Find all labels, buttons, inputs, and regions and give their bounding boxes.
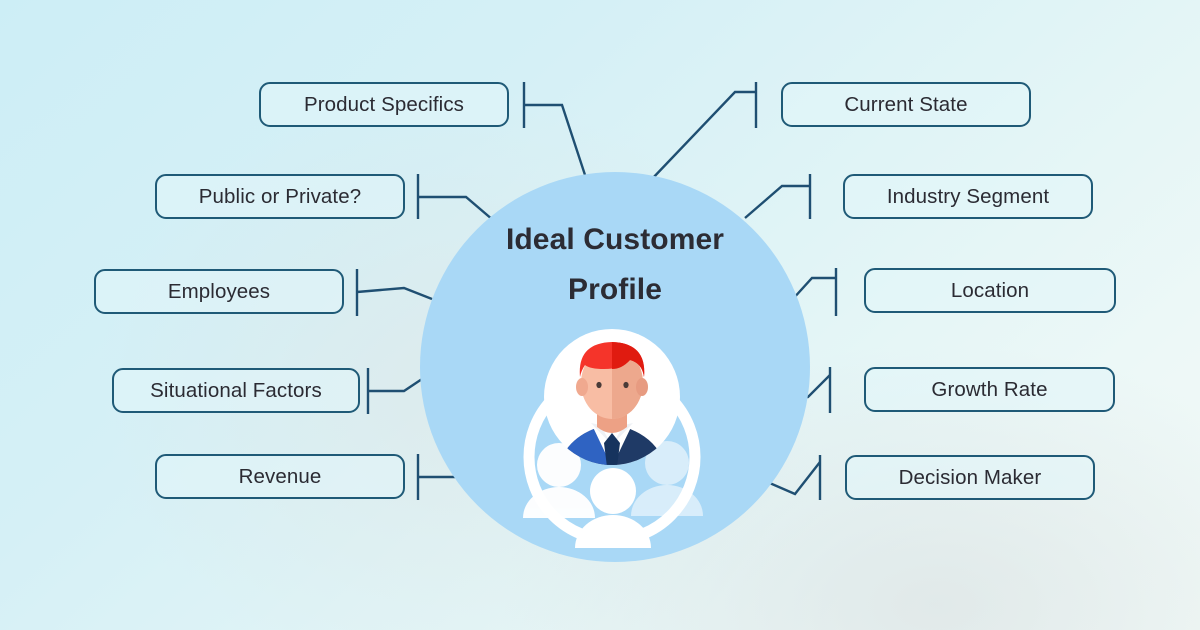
node-growth-rate[interactable]: Growth Rate	[864, 367, 1115, 412]
node-label: Growth Rate	[931, 378, 1047, 402]
connector-product-specifics	[524, 82, 586, 178]
node-decision-maker[interactable]: Decision Maker	[845, 455, 1095, 500]
node-employees[interactable]: Employees	[94, 269, 344, 314]
page-title-line-1: Ideal Customer	[420, 215, 810, 265]
node-public-or-private[interactable]: Public or Private?	[155, 174, 405, 219]
node-label: Employees	[168, 280, 270, 304]
node-product-specifics[interactable]: Product Specifics	[259, 82, 509, 127]
node-location[interactable]: Location	[864, 268, 1116, 313]
node-label: Decision Maker	[899, 466, 1042, 490]
node-label: Revenue	[239, 465, 322, 489]
node-industry-segment[interactable]: Industry Segment	[843, 174, 1093, 219]
page-title: Ideal Customer Profile	[420, 215, 810, 314]
diagram-canvas: Ideal Customer Profile	[0, 0, 1200, 630]
node-label: Current State	[844, 93, 967, 117]
node-label: Industry Segment	[887, 185, 1049, 209]
node-current-state[interactable]: Current State	[781, 82, 1031, 127]
connector-current-state	[651, 82, 756, 180]
node-label: Location	[951, 279, 1029, 303]
business-person-group-avatar-icon	[487, 305, 737, 555]
node-label: Situational Factors	[150, 379, 322, 403]
connector-situational-factors	[368, 368, 428, 414]
node-revenue[interactable]: Revenue	[155, 454, 405, 499]
connector-industry-segment	[745, 174, 810, 219]
node-situational-factors[interactable]: Situational Factors	[112, 368, 360, 413]
node-label: Public or Private?	[199, 185, 361, 209]
node-label: Product Specifics	[304, 93, 464, 117]
